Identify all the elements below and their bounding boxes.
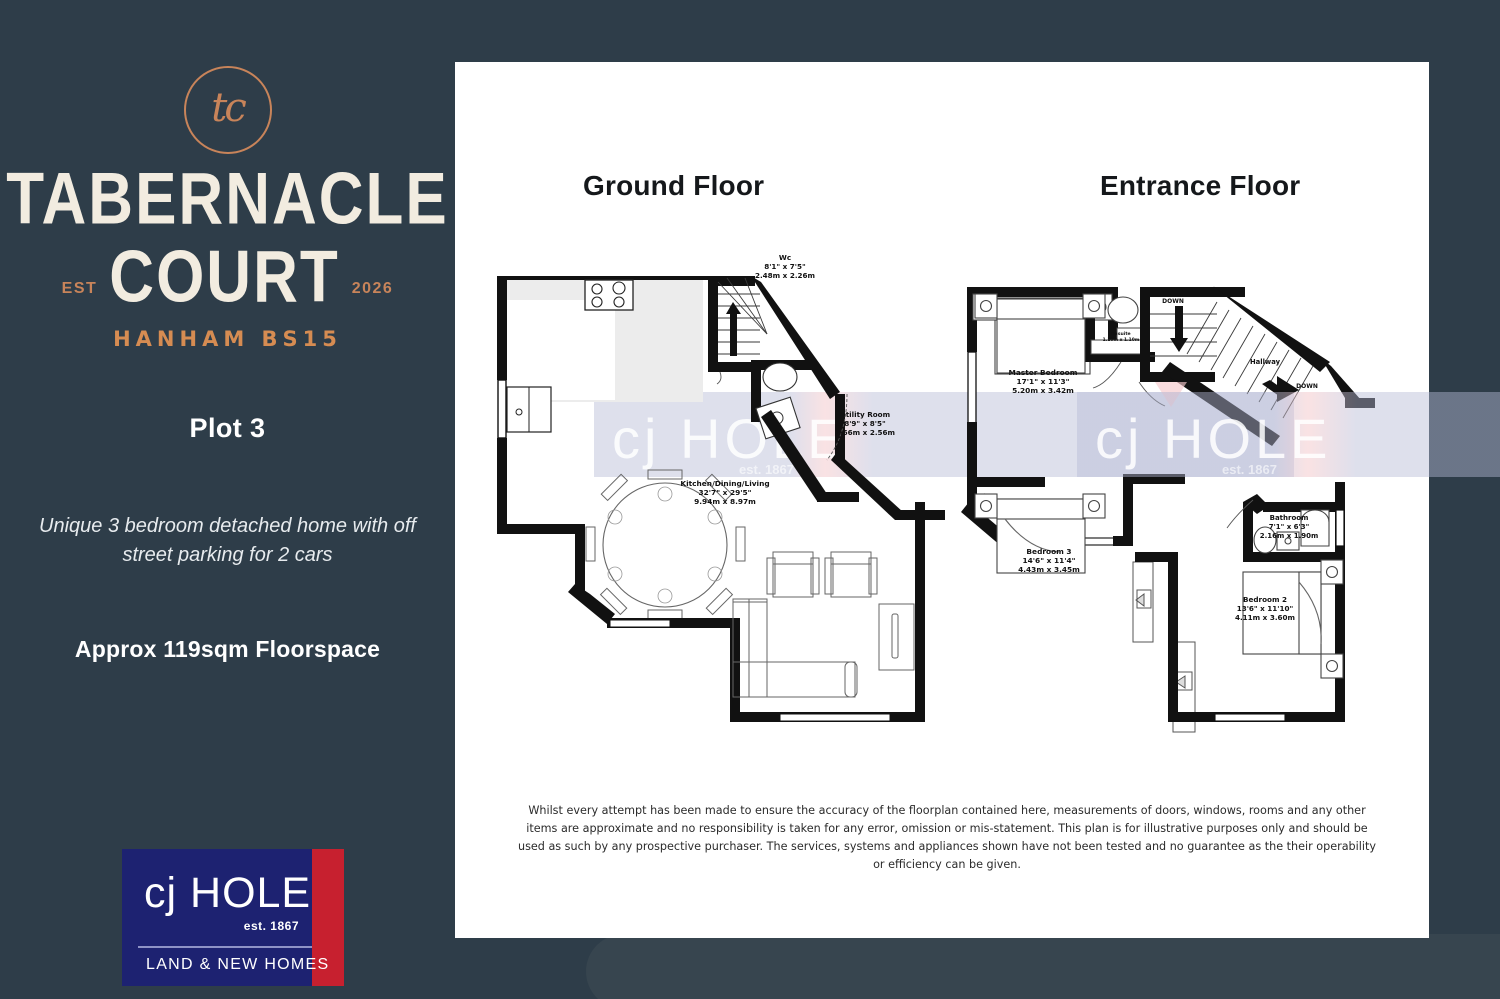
room-dims-bedroom3-imperial: 14'6" x 11'4" <box>1023 556 1076 565</box>
room-label-kitchen: Kitchen/Dining/Living <box>680 479 769 488</box>
room-label-utility: Utility Room <box>840 410 890 419</box>
wall-living-left <box>730 618 740 722</box>
room-dims-bathroom-imperial: 7'1" x 6'3" <box>1269 523 1309 531</box>
floorspace-label: Approx 119sqm Floorspace <box>75 636 380 663</box>
logo-wordmark-hole: HOLE <box>190 869 311 917</box>
room-dims-master-metric: 5.20m x 3.42m <box>1012 386 1074 395</box>
logo-wordmark-cj: cj <box>144 869 177 917</box>
hob-icon <box>585 280 633 310</box>
ground-floor-plan: Wc 8'1" x 7'5" 2.48m x 2.26m Utility Roo… <box>497 253 945 722</box>
brand-name-line2: COURT <box>109 242 339 312</box>
wall-master-bottom <box>967 477 1045 487</box>
corner-sofa-icon <box>733 599 857 697</box>
wall-diagonal-stair-lower <box>1162 362 1280 446</box>
sofa-group <box>767 552 877 597</box>
room-label-bedroom3: Bedroom 3 <box>1026 547 1071 556</box>
room-label-ensuite: Ensuite <box>1111 331 1130 337</box>
room-label-hallway: Hallway <box>1250 358 1281 366</box>
room-label-master: Master Bedroom <box>1009 368 1078 377</box>
wall-stairwell-left <box>1140 287 1150 382</box>
door-swing-hall <box>1093 362 1121 388</box>
logo-divider <box>138 946 312 948</box>
ensuite-basin-icon <box>1108 297 1138 323</box>
window-master <box>968 352 976 424</box>
wall-b2-right <box>1335 562 1345 722</box>
wall-stairwell-top <box>1140 287 1245 297</box>
wall-right <box>915 502 925 722</box>
wall-bottom-left-stub <box>497 524 585 534</box>
logo-established: est. 1867 <box>244 919 299 933</box>
wall-right-stub <box>1345 398 1375 408</box>
stair-annotation-down-1: DOWN <box>1162 298 1184 305</box>
room-dims-wc-metric: 2.48m x 2.26m <box>755 271 815 280</box>
wc-basin-icon <box>763 363 797 391</box>
room-dims-bedroom2-imperial: 13'6" x 11'10" <box>1237 604 1294 613</box>
wall-b2-left <box>1168 552 1178 722</box>
wall-left-upper <box>497 276 507 380</box>
room-dims-bedroom2-metric: 4.11m x 3.60m <box>1235 613 1295 622</box>
wall-left-lower <box>497 438 507 532</box>
room-dims-bedroom3-metric: 4.43m x 3.45m <box>1018 565 1080 574</box>
floorplan-page: tc TABERNACLE EST COURT 2026 HANHAM BS15… <box>0 0 1500 999</box>
tabernacle-court-monogram-icon: tc <box>184 66 272 154</box>
established-year: 2026 <box>352 280 394 307</box>
stair-arrow-entrance <box>1175 306 1183 340</box>
wall-stair-left <box>708 276 718 372</box>
monogram-letters: tc <box>186 68 270 152</box>
brand-location: HANHAM BS15 <box>113 327 342 351</box>
room-dims-utility-imperial: 8'9" x 8'5" <box>844 419 886 428</box>
page-title: Plot 3 <box>190 413 266 444</box>
floorplan-canvas: Ground Floor Entrance Floor cj HOLE est.… <box>455 62 1429 938</box>
wall-bottom-mid <box>670 618 740 628</box>
disclaimer-text: Whilst every attempt has been made to en… <box>517 802 1377 875</box>
wall-stair-bottom <box>708 362 755 372</box>
wall-b3-right <box>1123 482 1133 546</box>
established-label: EST <box>62 280 98 307</box>
room-label-wc: Wc <box>779 253 791 262</box>
storage-cupboard-icon <box>1133 562 1153 642</box>
brand-name-row2: EST COURT 2026 <box>62 248 394 308</box>
room-dims-kitchen-metric: 9.94m x 8.97m <box>694 497 756 506</box>
wall-b3-top-right <box>1123 474 1185 484</box>
wall-utility-bottom <box>817 492 859 502</box>
window-left-glazing <box>498 380 506 438</box>
window-bathroom <box>1336 510 1344 546</box>
room-dims-bathroom-metric: 2.16m x 1.90m <box>1260 532 1319 540</box>
stair-annotation-down-2: DOWN <box>1296 383 1318 390</box>
bottom-accent-bar <box>586 934 1500 999</box>
room-dims-ensuite-metric: 1.10m x 1.10m <box>1103 337 1140 343</box>
door-swing-stairs <box>717 372 721 384</box>
stair-arrow-head-entrance <box>1170 338 1188 352</box>
room-dims-kitchen-imperial: 32'7" x 29'5" <box>699 488 752 497</box>
wall-left-notch <box>575 524 585 592</box>
room-dims-utility-metric: 2.66m x 2.56m <box>835 428 895 437</box>
cj-hole-logo: cj HOLE est. 1867 LAND & NEW HOMES <box>122 849 344 986</box>
window-bay <box>610 620 670 627</box>
wall-diagonal-utility <box>831 452 903 520</box>
entrance-floor-plan: Ensuite 1.10m x 1.10m DOWN <box>961 286 1375 732</box>
logo-tagline: LAND & NEW HOMES <box>146 956 330 974</box>
plot-description: Unique 3 bedroom detached home with off … <box>28 512 428 570</box>
room-dims-master-imperial: 17'1" x 11'3" <box>1017 377 1070 386</box>
logo-wordmark: cj HOLE <box>144 869 311 918</box>
wall-b2-top-left <box>1135 552 1178 562</box>
stair-direction-arrow-ground <box>730 312 737 356</box>
room-label-bathroom: Bathroom <box>1270 514 1309 522</box>
room-label-bedroom2: Bedroom 2 <box>1243 595 1287 604</box>
window-bottom <box>780 714 890 721</box>
window-b2-bottom <box>1215 714 1285 721</box>
brand-name-line1: TABERNACLE <box>6 165 449 235</box>
tv-unit-icon <box>879 604 914 670</box>
room-dims-wc-imperial: 8'1" x 7'5" <box>764 262 806 271</box>
brand-sidebar: tc TABERNACLE EST COURT 2026 HANHAM BS15… <box>0 0 455 838</box>
logo-top-section: cj HOLE est. 1867 <box>122 849 344 945</box>
